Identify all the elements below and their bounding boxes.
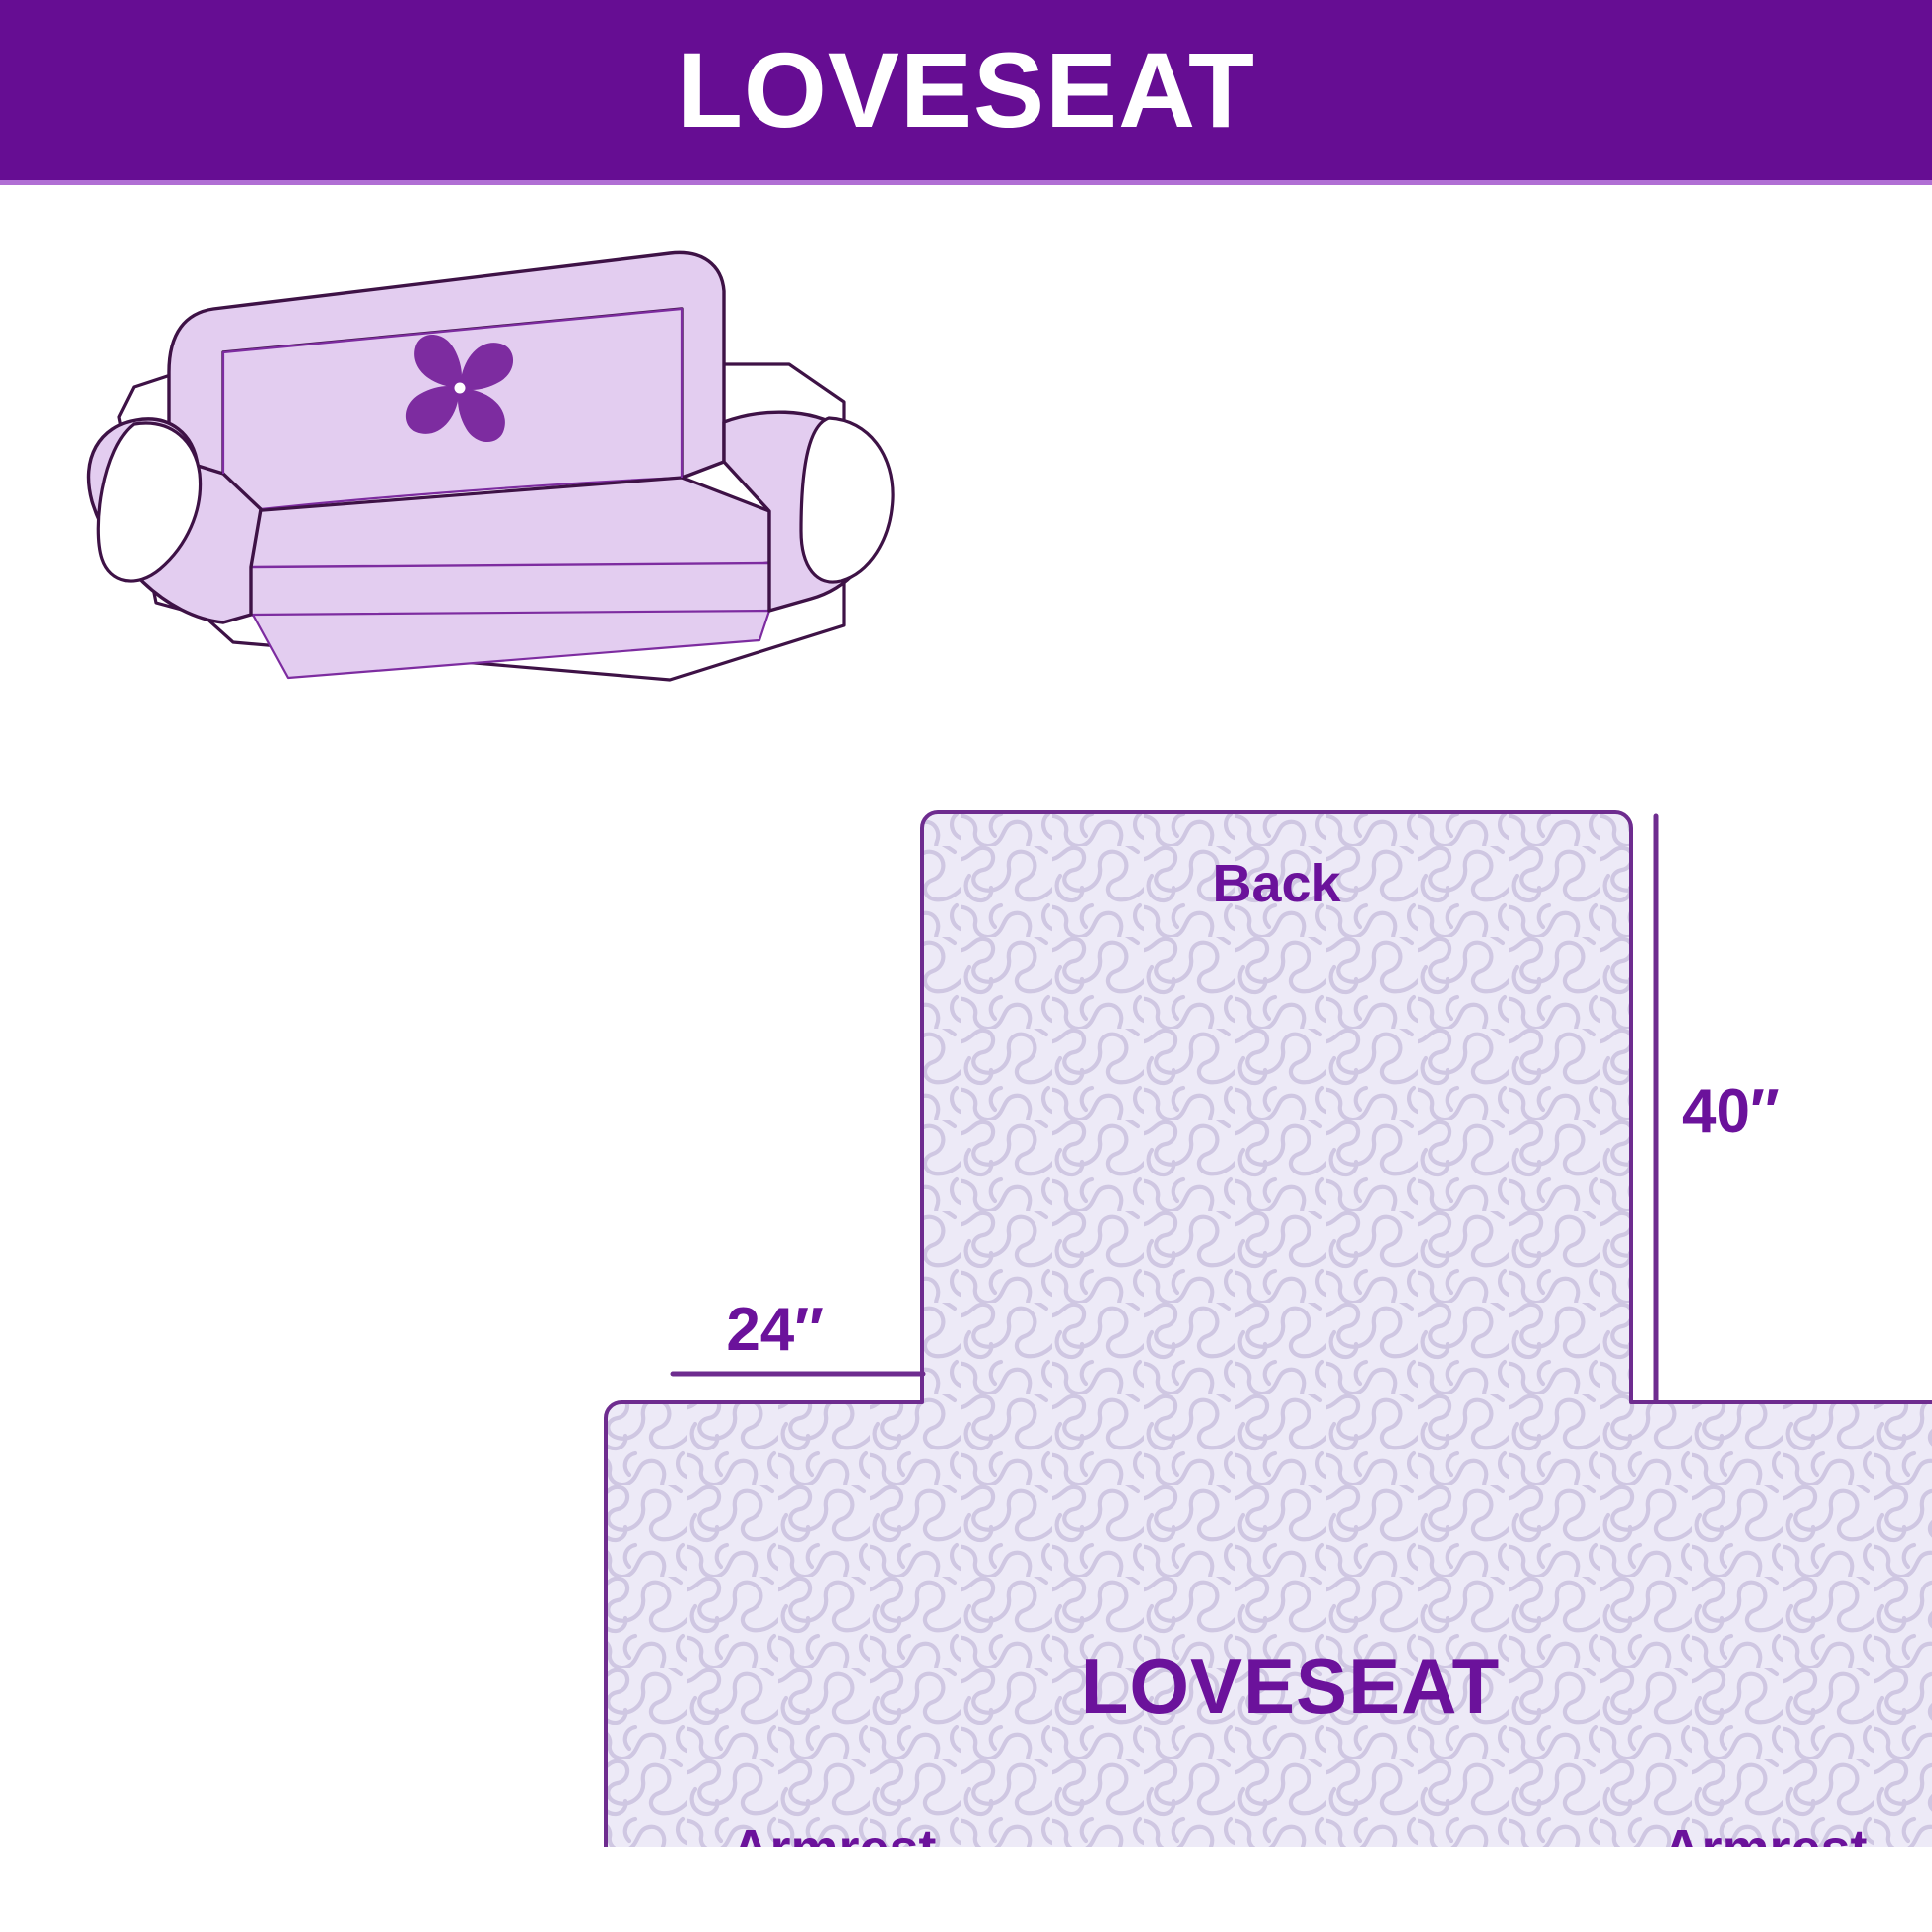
dimension-label-back-offset: 24″	[726, 1296, 824, 1364]
page-title: LOVESEAT	[677, 37, 1255, 144]
header-divider	[0, 180, 1932, 185]
sofa-right-arm-roll	[801, 418, 893, 582]
cover-cutting-diagram: Back Armrest Armrest Front LOVESEAT 40″ …	[596, 755, 1932, 1847]
loveseat-sofa-illustration	[74, 213, 928, 700]
diagram-center-label: LOVESEAT	[1081, 1642, 1501, 1729]
panel-label-armrest-left: Armrest	[731, 1819, 936, 1847]
dimension-label-back-height: 40″	[1682, 1077, 1780, 1146]
panel-label-armrest-right: Armrest	[1662, 1819, 1867, 1847]
header-banner: LOVESEAT	[0, 0, 1932, 180]
panel-label-back: Back	[1212, 854, 1341, 913]
product-dimension-infographic: LOVESEAT	[0, 0, 1932, 1932]
